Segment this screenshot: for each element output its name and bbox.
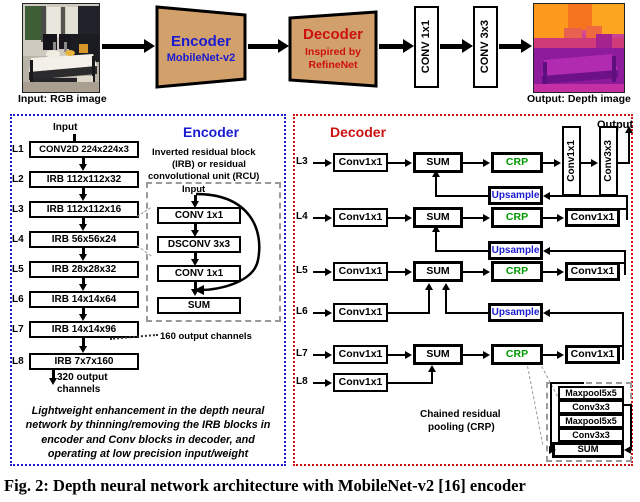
- arrowhead-decoder-to-conv1: [403, 39, 414, 53]
- wire-l6-to-sum-h: [388, 312, 430, 314]
- arrowhead-l4-l5: [79, 254, 87, 261]
- arrowhead-l7-in: [325, 351, 332, 359]
- encoder-trapezoid: Encoder MobileNet-v2: [155, 5, 247, 89]
- decoder-l7-crp: CRP: [491, 344, 543, 365]
- arrowhead-l4-in: [325, 214, 332, 222]
- encoder-input-label: Input: [53, 122, 77, 133]
- decoder-upsample-2-label: Upsample: [492, 246, 540, 256]
- crp-block-maxpool-a-label: Maxpool5x5: [565, 389, 617, 398]
- input-rgb-image: [22, 3, 100, 93]
- arrowhead-l7-sum-crp: [483, 351, 490, 359]
- encoder-layer-l5: IRB 28x28x32: [29, 261, 139, 278]
- arrowhead-ups3-in: [543, 309, 550, 317]
- encoder-trapezoid-subtitle: MobileNet-v2: [155, 52, 247, 64]
- encoder-tag-l1: L1: [12, 144, 24, 155]
- decoder-l5-sum-label: SUM: [426, 266, 449, 277]
- arrowhead-l5-crp-tail: [557, 268, 564, 276]
- encoder-tag-l6: L6: [12, 294, 24, 305]
- decoder-l7-tail-label: Conv1x1: [571, 349, 615, 360]
- decoder-upsample-1-label: Upsample: [492, 191, 540, 201]
- arrowhead-l3-crp-head: [554, 159, 561, 167]
- decoder-trapezoid: Decoder Inspired by RefineNet: [288, 10, 378, 88]
- wire-ups1-to-sum-h: [435, 195, 488, 197]
- decoder-head-conv1x1-label: Conv1x1: [567, 140, 577, 182]
- crp-wire-left-v: [550, 382, 552, 450]
- decoder-tag-l8: L8: [296, 376, 308, 387]
- wire-l8-to-sum-h: [388, 382, 433, 384]
- arrowhead-l6-to-sum: [425, 283, 433, 290]
- encoder-panel-title: Encoder: [183, 124, 239, 140]
- decoder-l4-tail: Conv1x1: [565, 208, 620, 227]
- decoder-l7-sum-label: SUM: [426, 349, 449, 360]
- arrowhead-output: [625, 126, 633, 133]
- irb-heading-2: (IRB) or residual: [172, 159, 246, 170]
- encoder-layer-l2-label: IRB 112x112x32: [47, 175, 122, 185]
- wire-ups3-from-right: [550, 312, 624, 314]
- encoder-layer-l4-label: IRB 56x56x24: [52, 235, 117, 245]
- arrowhead-conv2-to-output: [521, 39, 532, 53]
- decoder-upsample-2: Upsample: [488, 241, 543, 260]
- wire-l7-tail-right: [618, 345, 624, 347]
- arrowhead-l5-in: [325, 268, 332, 276]
- decoder-l4-sum-label: SUM: [426, 212, 449, 223]
- decoder-tag-l3: L3: [296, 156, 308, 167]
- crp-caption-1: Chained residual: [420, 409, 501, 420]
- encoder-layer-l7: IRB 14x14x96: [29, 321, 139, 338]
- decoder-tag-l5: L5: [296, 265, 308, 276]
- encoder-layer-l8: IRB 7x7x160: [29, 353, 139, 370]
- decoder-l5-sum: SUM: [413, 261, 463, 282]
- decoder-l7-sum: SUM: [413, 344, 463, 365]
- wire-ups2-to-sum-v: [435, 230, 437, 251]
- arrowhead-l2-l3: [79, 194, 87, 201]
- arrowhead-l5-sum-crp: [483, 268, 490, 276]
- arrow-encoder-to-decoder: [248, 44, 278, 49]
- wire-ups1-from-right: [550, 195, 628, 197]
- encoder-layer-l8-label: IRB 7x7x160: [55, 357, 114, 367]
- crp-block-sum: SUM: [552, 442, 624, 458]
- decoder-l8-conv: Conv1x1: [333, 373, 388, 392]
- arrowhead-ups1-in: [543, 192, 550, 200]
- arrowhead-conv1-to-conv2: [462, 39, 473, 53]
- decoder-l5-tail: Conv1x1: [565, 262, 620, 281]
- decoder-l5-conv: Conv1x1: [333, 262, 388, 281]
- wire-head-to-out-v: [628, 133, 630, 164]
- decoder-upsample-3-label: Upsample: [492, 308, 540, 318]
- decoder-tag-l6: L6: [296, 306, 308, 317]
- wire-ups2-from-right: [550, 250, 626, 252]
- arrowhead-head-conv1-conv2: [591, 159, 598, 167]
- wire-ups1-to-sum-v: [435, 175, 437, 196]
- wire-ups2-to-sum-h: [435, 250, 488, 252]
- crp-wire-right-top: [622, 404, 632, 406]
- decoder-l7-conv-label: Conv1x1: [339, 349, 383, 360]
- arrow-l4-sum-crp: [463, 217, 485, 219]
- crp-block-maxpool-b: Maxpool5x5: [558, 414, 624, 428]
- encoder-tag-l2: L2: [12, 174, 24, 185]
- arrowhead-l6-l7: [79, 314, 87, 321]
- decoder-l5-crp-label: CRP: [506, 266, 528, 277]
- crp-block-conv3x3-a: Conv3x3: [558, 400, 624, 414]
- pipeline-conv1x1-box: CONV 1x1: [414, 6, 439, 88]
- encoder-tag-l8: L8: [12, 356, 24, 367]
- crp-caption-2: pooling (CRP): [428, 422, 495, 433]
- pipeline-conv3x3-label: CONV 3x3: [480, 20, 491, 73]
- decoder-upsample-3: Upsample: [488, 303, 543, 322]
- encoder-output-note-1: 320 output: [57, 372, 108, 383]
- decoder-l4-crp-label: CRP: [506, 212, 528, 223]
- decoder-l3-crp: CRP: [491, 152, 543, 173]
- encoder-layer-l2: IRB 112x112x32: [29, 171, 139, 188]
- encoder-layer-l1: CONV2D 224x224x3: [29, 141, 139, 158]
- decoder-l3-sum-label: SUM: [426, 157, 449, 168]
- crp-wire-left-top: [550, 382, 584, 384]
- arrowhead-ups3-to-sum: [442, 283, 450, 290]
- decoder-l5-crp: CRP: [491, 261, 543, 282]
- wire-ups3-to-sum-v: [445, 289, 447, 313]
- crp-arrowhead-right-sum: [624, 446, 631, 454]
- encoder-tag-l7: L7: [12, 324, 24, 335]
- crp-arrowhead-left-sum: [549, 446, 556, 454]
- figure-caption: Fig. 2: Depth neural network architectur…: [4, 476, 640, 496]
- wire-ups3-to-sum-h: [445, 312, 488, 314]
- irb-block-sum-label: SUM: [188, 301, 210, 311]
- decoder-trapezoid-title: Decoder: [288, 26, 378, 43]
- arrowhead-l8-out: [49, 378, 57, 385]
- encoder-layer-l6: IRB 14x14x64: [29, 291, 139, 308]
- decoder-l4-conv-label: Conv1x1: [339, 212, 383, 223]
- arrowhead-l7-conv-sum: [405, 351, 412, 359]
- crp-block-conv3x3-b: Conv3x3: [558, 428, 624, 442]
- arrowhead-ups2-to-sum: [432, 225, 440, 232]
- wire-l4-tail-right: [618, 208, 628, 210]
- decoder-l3-crp-label: CRP: [506, 157, 528, 168]
- arrow-input-to-encoder: [102, 44, 144, 49]
- decoder-l7-conv: Conv1x1: [333, 345, 388, 364]
- encoder-layer-l3-label: IRB 112x112x16: [47, 205, 122, 215]
- decoder-l6-conv: Conv1x1: [333, 303, 388, 322]
- arrowhead-l1-l2: [79, 164, 87, 171]
- decoder-head-conv1x1: Conv1x1: [562, 126, 581, 196]
- arrowhead-ups2-in: [543, 247, 550, 255]
- decoder-l4-conv: Conv1x1: [333, 208, 388, 227]
- arrowhead-input-to-encoder: [144, 39, 155, 53]
- arrowhead-l7-crp-tail: [557, 351, 564, 359]
- decoder-head-conv3x3-label: Conv3x3: [604, 140, 614, 182]
- arrow-l3-sum-crp: [463, 162, 485, 164]
- arrowhead-l4-conv-sum: [405, 214, 412, 222]
- decoder-l5-conv-label: Conv1x1: [339, 266, 383, 277]
- output-depth-image: [533, 3, 625, 93]
- wire-l6-to-sum-v: [428, 289, 430, 313]
- encoder-output-note-2: channels: [57, 384, 100, 395]
- encoder-side-note: 160 output channels: [160, 331, 252, 342]
- crp-block-maxpool-b-label: Maxpool5x5: [565, 417, 617, 426]
- pipeline-conv3x3-box: CONV 3x3: [473, 6, 498, 88]
- encoder-layer-l7-label: IRB 14x14x96: [52, 325, 117, 335]
- arrowhead-l4-crp-tail: [557, 214, 564, 222]
- irb-heading-3: convolutional unit (RCU): [148, 171, 259, 182]
- pipeline-conv1x1-label: CONV 1x1: [421, 20, 432, 73]
- encoder-layer-l1-label: CONV2D 224x224x3: [39, 145, 129, 155]
- irb-heading-1: Inverted residual block: [152, 147, 255, 158]
- arrowhead-l4-sum-crp: [483, 214, 490, 222]
- decoder-l5-tail-label: Conv1x1: [571, 266, 615, 277]
- arrowhead-l8-in: [325, 379, 332, 387]
- encoder-layer-l4: IRB 56x56x24: [29, 231, 139, 248]
- crp-block-conv3x3-a-label: Conv3x3: [572, 403, 610, 412]
- decoder-l3-conv-label: Conv1x1: [339, 157, 383, 168]
- decoder-l8-conv-label: Conv1x1: [339, 377, 383, 388]
- crp-block-maxpool-a: Maxpool5x5: [558, 386, 624, 400]
- decoder-tag-l4: L4: [296, 211, 308, 222]
- figure-caption-text: Fig. 2: Depth neural network architectur…: [4, 476, 526, 495]
- encoder-layer-l3: IRB 112x112x16: [29, 201, 139, 218]
- decoder-l4-tail-label: Conv1x1: [571, 212, 615, 223]
- decoder-trapezoid-subtitle-1: Inspired by: [288, 46, 378, 58]
- arrow-conv1-to-conv2: [440, 44, 462, 49]
- decoder-l4-crp: CRP: [491, 207, 543, 228]
- decoder-panel-title: Decoder: [330, 124, 386, 140]
- decoder-trapezoid-subtitle-2: RefineNet: [288, 59, 378, 71]
- arrowhead-l8-to-sum: [428, 365, 436, 372]
- arrowhead-l3-sum-crp: [483, 159, 490, 167]
- decoder-l7-tail: Conv1x1: [565, 345, 620, 364]
- arrow-l5-sum-crp: [463, 271, 485, 273]
- encoder-layer-l5-label: IRB 28x28x32: [52, 265, 117, 275]
- arrow-conv2-to-output: [499, 44, 521, 49]
- decoder-l6-conv-label: Conv1x1: [339, 307, 383, 318]
- output-image-label: Output: Depth image: [527, 93, 631, 105]
- arrowhead-l3-conv-sum: [405, 159, 412, 167]
- irb-skip-connection: [190, 190, 270, 298]
- arrowhead-l3-in: [325, 159, 332, 167]
- arrow-decoder-to-conv1: [379, 44, 403, 49]
- arrowhead-l6-in: [325, 309, 332, 317]
- wire-l5-tail-right: [618, 262, 626, 264]
- encoder-tag-l3: L3: [12, 204, 24, 215]
- input-image-label: Input: RGB image: [18, 93, 107, 105]
- arrowhead-l7-l8: [79, 346, 87, 353]
- decoder-head-conv3x3: Conv3x3: [599, 126, 618, 196]
- encoder-trapezoid-title: Encoder: [155, 33, 247, 50]
- crp-wire-right-v: [630, 404, 632, 450]
- encoder-note: Lightweight enhancement in the depth neu…: [18, 404, 278, 461]
- decoder-upsample-1: Upsample: [488, 186, 543, 205]
- decoder-l7-crp-label: CRP: [506, 349, 528, 360]
- encoder-layer-l6-label: IRB 14x14x64: [52, 295, 117, 305]
- crp-block-conv3x3-b-label: Conv3x3: [572, 431, 610, 440]
- encoder-tag-l4: L4: [12, 234, 24, 245]
- decoder-tag-l7: L7: [296, 348, 308, 359]
- crp-block-sum-label: SUM: [577, 445, 598, 455]
- arrow-l7-sum-crp: [463, 354, 485, 356]
- encoder-tag-l5: L5: [12, 264, 24, 275]
- decoder-l3-conv: Conv1x1: [333, 153, 388, 172]
- arrowhead-l3-l4: [79, 224, 87, 231]
- arrowhead-ups1-to-sum: [432, 170, 440, 177]
- irb-block-sum: SUM: [157, 297, 241, 314]
- arrowhead-l5-conv-sum: [405, 268, 412, 276]
- arrowhead-l5-l6: [79, 284, 87, 291]
